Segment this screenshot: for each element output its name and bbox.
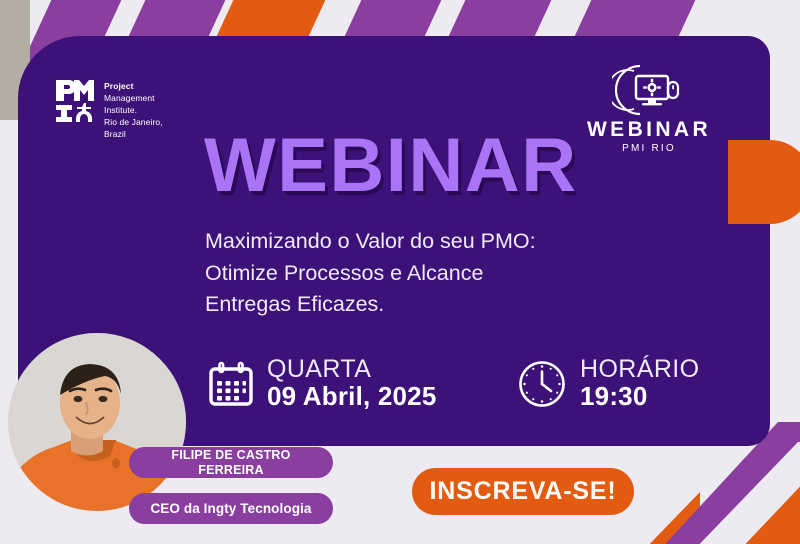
event-time-value: 19:30 [580,382,699,411]
webinar-flyer: ProjectManagement Institute. Rio de Jane… [0,0,800,544]
register-button[interactable]: INSCREVA-SE! [412,468,634,515]
webinar-badge-title: WEBINAR [584,118,714,142]
pmi-logo-mark [54,78,96,124]
webinar-badge-subtitle: PMI RIO [584,143,714,154]
clock-icon [517,359,567,409]
page-title: WEBINAR [204,128,578,204]
speaker-photo [8,333,186,511]
event-date-text: QUARTA 09 Abril, 2025 [267,356,437,411]
event-time-block: HORÁRIO 19:30 [517,356,699,411]
orange-halfcircle-decoration [728,140,800,224]
monitor-gear-mouse-icon [612,60,686,120]
webinar-badge: WEBINAR PMI RIO [584,60,714,154]
speaker-name-badge: FILIPE DE CASTRO FERREIRA [129,447,333,478]
calendar-icon [208,361,254,407]
page-subtitle: Maximizando o Valor do seu PMO: Otimize … [205,226,635,321]
pmi-org-rest: Management Institute. Rio de Janeiro, Br… [104,93,163,139]
speaker-role-badge: CEO da Ingty Tecnologia [129,493,333,524]
speaker-portrait [8,333,186,511]
event-time-label: HORÁRIO [580,356,699,382]
pmi-logo-text: ProjectManagement Institute. Rio de Jane… [104,78,163,140]
pmi-org-line1: Project [104,80,163,92]
pmi-rio-logo: ProjectManagement Institute. Rio de Jane… [54,78,163,140]
event-date-value: 09 Abril, 2025 [267,382,437,411]
event-date-block: QUARTA 09 Abril, 2025 [208,356,437,411]
event-date-label: QUARTA [267,356,437,382]
event-time-text: HORÁRIO 19:30 [580,356,699,411]
